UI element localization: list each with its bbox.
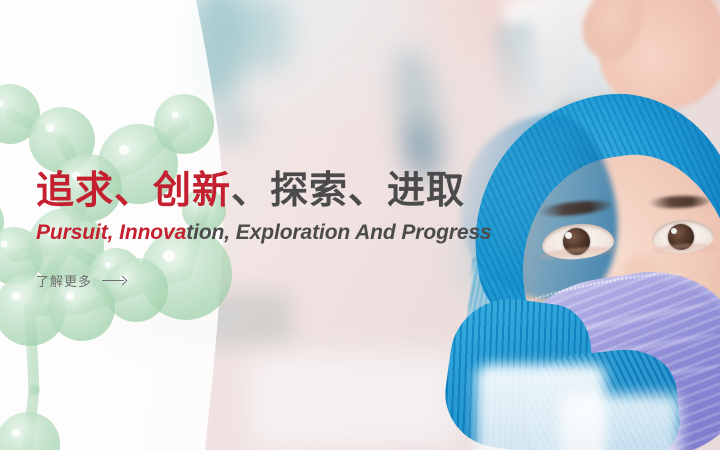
headline-red-segment: 追求、创新 [36,168,231,212]
learn-more-link[interactable]: 了解更多 [36,271,128,290]
page-subtitle: Pursuit, Innovation, Exploration And Pro… [36,221,696,245]
learn-more-label: 了解更多 [36,271,92,290]
foreground-white-object-2 [560,394,680,450]
headline-gray-segment: 、探索、进取 [231,168,465,212]
subhead-gray-segment: tion, Exploration And Progress [186,221,491,244]
subhead-red-segment: Pursuit, Innova [36,221,186,244]
arrow-right-icon [102,275,128,287]
hero-copy: 追求、创新、探索、进取 Pursuit, Innovation, Explora… [36,170,696,291]
page-title: 追求、创新、探索、进取 [36,170,696,211]
hero-banner: 追求、创新、探索、进取 Pursuit, Innovation, Explora… [0,0,720,450]
